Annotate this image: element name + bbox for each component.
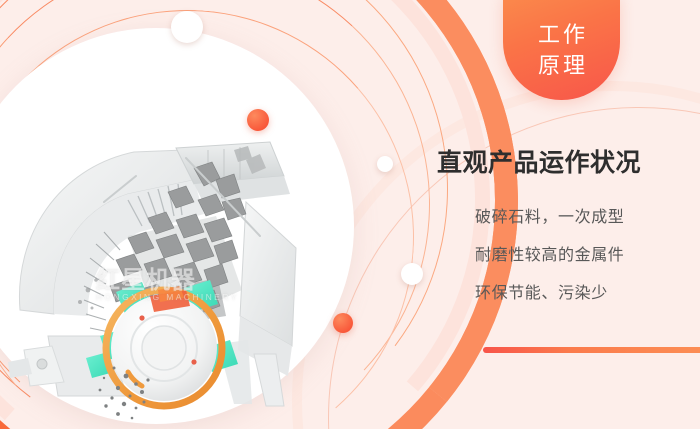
list-item: 环保节能、污染少 (437, 286, 695, 302)
decor-dot-orange-lower (333, 313, 353, 333)
badge-line-2: 原理 (535, 51, 588, 80)
decor-dot-orange-upper (247, 109, 269, 131)
decor-dot-white-top (171, 11, 203, 43)
copy-block: 直观产品运作状况 破碎石料，一次成型 耐磨性较高的金属件 环保节能、污染少 (437, 148, 695, 324)
list-item: 破碎石料，一次成型 (437, 210, 695, 226)
impact-crusher-illustration (8, 140, 308, 420)
list-item: 耐磨性较高的金属件 (437, 248, 695, 264)
working-principle-badge: 工作 原理 (503, 0, 620, 100)
decor-dot-white-mid (377, 156, 393, 172)
accent-underline-bar (483, 347, 700, 353)
decor-dot-white-right (401, 263, 423, 285)
badge-line-1: 工作 (535, 20, 588, 49)
promo-banner: 红星机器 HONGXING MACHINERY 工作 原理 直观产品运作状况 破… (0, 0, 700, 429)
page-title: 直观产品运作状况 (437, 148, 695, 178)
feature-list: 破碎石料，一次成型 耐磨性较高的金属件 环保节能、污染少 (437, 210, 695, 302)
